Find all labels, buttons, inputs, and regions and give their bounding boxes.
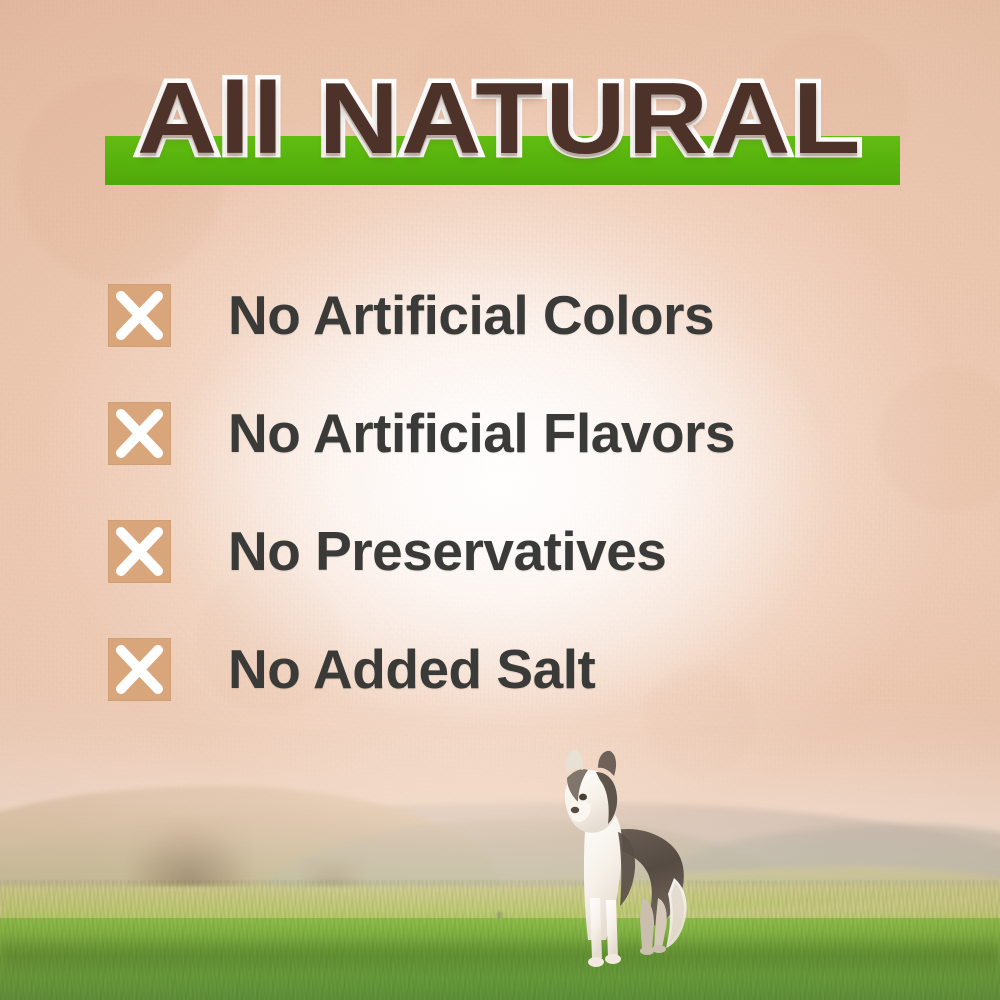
feature-label: No Artificial Flavors <box>228 406 735 461</box>
all-natural-feature-panel: All NATURAL No Artificial Colors <box>0 0 1000 1000</box>
list-item: No Added Salt <box>108 610 908 728</box>
feature-list: No Artificial Colors No Artificial Flavo… <box>108 256 908 728</box>
title-banner <box>105 136 900 185</box>
x-mark-icon <box>108 520 171 583</box>
feature-label: No Artificial Colors <box>228 288 714 343</box>
list-item: No Preservatives <box>108 492 908 610</box>
landscape-photo <box>0 690 1000 1000</box>
feature-label: No Added Salt <box>228 642 595 697</box>
x-mark-icon <box>108 284 171 347</box>
checkbox-no-artificial-colors[interactable] <box>108 284 171 347</box>
checkbox-no-added-salt[interactable] <box>108 638 171 701</box>
x-mark-icon <box>108 402 171 465</box>
photo-ground-shadow <box>0 932 1000 978</box>
checkbox-no-artificial-flavors[interactable] <box>108 402 171 465</box>
border-collie-dog-icon <box>534 748 704 973</box>
x-mark-icon <box>108 638 171 701</box>
list-item: No Artificial Colors <box>108 256 908 374</box>
list-item: No Artificial Flavors <box>108 374 908 492</box>
checkbox-no-preservatives[interactable] <box>108 520 171 583</box>
feature-label: No Preservatives <box>228 524 666 579</box>
